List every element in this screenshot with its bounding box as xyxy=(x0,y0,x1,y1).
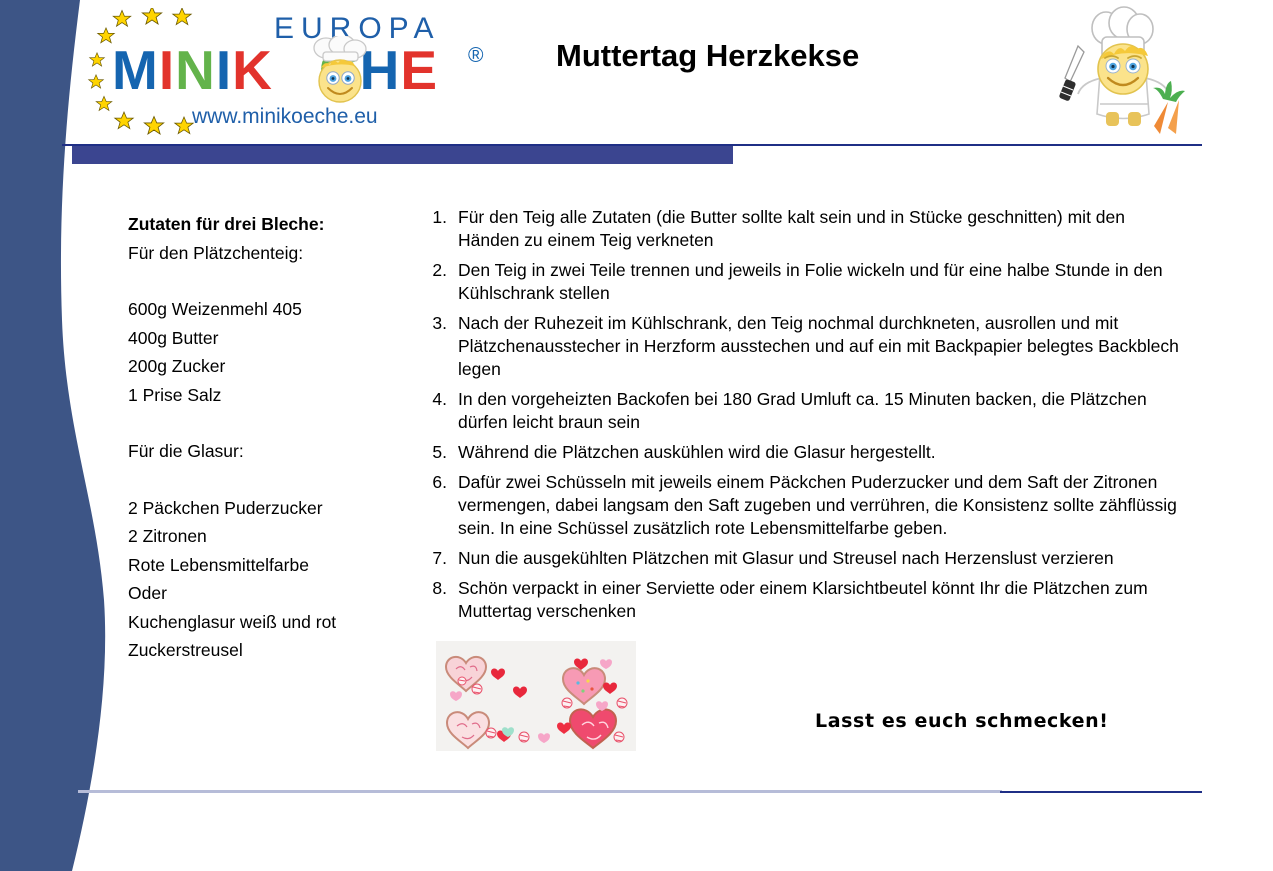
step-text: Dafür zwei Schüsseln mit jeweils einem P… xyxy=(458,471,1188,540)
step-text: Für den Teig alle Zutaten (die Butter so… xyxy=(458,206,1188,252)
instruction-step: 5. Während die Plätzchen auskühlen wird … xyxy=(428,441,1188,464)
step-text: Nach der Ruhezeit im Kühlschrank, den Te… xyxy=(458,312,1188,381)
spacer xyxy=(128,409,418,437)
page-title: Muttertag Herzkekse xyxy=(556,38,859,74)
step-text: Während die Plätzchen auskühlen wird die… xyxy=(458,441,1188,464)
page-header: EUROPA MINIKOCHE ® www.minikoeche.eu xyxy=(0,0,1273,145)
step-number: 8. xyxy=(428,577,458,600)
ingredients-dough-subheading: Für den Plätzchenteig: xyxy=(128,239,418,268)
recipe-page: EUROPA MINIKOCHE ® www.minikoeche.eu xyxy=(0,0,1273,871)
heart-cookies-photo xyxy=(436,641,636,751)
closing-message: Lasst es euch schmecken! xyxy=(815,710,1109,732)
footer-divider-rule-dark xyxy=(1000,791,1202,793)
ingredient-item: Kuchenglasur weiß und rot xyxy=(128,608,418,637)
step-number: 6. xyxy=(428,471,458,494)
step-text: Den Teig in zwei Teile trennen und jewei… xyxy=(458,259,1188,305)
step-text: Schön verpackt in einer Serviette oder e… xyxy=(458,577,1188,623)
spacer xyxy=(128,267,418,295)
step-number: 5. xyxy=(428,441,458,464)
instruction-step: 1. Für den Teig alle Zutaten (die Butter… xyxy=(428,206,1188,252)
ingredient-item: 400g Butter xyxy=(128,324,418,353)
instruction-step: 2. Den Teig in zwei Teile trennen und je… xyxy=(428,259,1188,305)
step-number: 7. xyxy=(428,547,458,570)
step-text: Nun die ausgekühlten Plätzchen mit Glasu… xyxy=(458,547,1188,570)
instruction-step: 3. Nach der Ruhezeit im Kühlschrank, den… xyxy=(428,312,1188,381)
instruction-step: 6. Dafür zwei Schüsseln mit jeweils eine… xyxy=(428,471,1188,540)
step-number: 2. xyxy=(428,259,458,282)
registered-trademark-icon: ® xyxy=(468,44,483,68)
minikoeche-logo: EUROPA MINIKOCHE ® www.minikoeche.eu xyxy=(86,8,506,136)
step-number: 1. xyxy=(428,206,458,229)
logo-brand-text: MINIKOCHE xyxy=(112,41,438,99)
step-number: 4. xyxy=(428,388,458,411)
ingredients-panel: Zutaten für drei Bleche: Für den Plätzch… xyxy=(128,210,418,665)
ingredient-item: 1 Prise Salz xyxy=(128,381,418,410)
ingredient-item: 2 Zitronen xyxy=(128,522,418,551)
footer-divider-rule-light xyxy=(78,790,1002,793)
ingredient-item: 2 Päckchen Puderzucker xyxy=(128,494,418,523)
chef-face-icon xyxy=(308,36,372,106)
page-content: Zutaten für drei Bleche: Für den Plätzch… xyxy=(0,164,1273,784)
ingredient-item: Zuckerstreusel xyxy=(128,636,418,665)
carrot-icon xyxy=(1153,81,1185,134)
spacer xyxy=(128,466,418,494)
logo-website-url: www.minikoeche.eu xyxy=(192,105,378,129)
knife-icon xyxy=(1059,46,1084,102)
header-accent-bar xyxy=(72,146,733,164)
ingredient-item: Rote Lebensmittelfarbe xyxy=(128,551,418,580)
ingredients-glaze-subheading: Für die Glasur: xyxy=(128,437,418,466)
ingredient-item: 600g Weizenmehl 405 xyxy=(128,295,418,324)
instruction-step: 4. In den vorgeheizten Backofen bei 180 … xyxy=(428,388,1188,434)
chef-mascot-icon xyxy=(1048,4,1198,140)
instruction-step: 7. Nun die ausgekühlten Plätzchen mit Gl… xyxy=(428,547,1188,570)
step-number: 3. xyxy=(428,312,458,335)
ingredient-item: Oder xyxy=(128,579,418,608)
step-text: In den vorgeheizten Backofen bei 180 Gra… xyxy=(458,388,1188,434)
instruction-steps-list: 1. Für den Teig alle Zutaten (die Butter… xyxy=(428,206,1188,630)
ingredients-heading: Zutaten für drei Bleche: xyxy=(128,210,418,239)
ingredient-item: 200g Zucker xyxy=(128,352,418,381)
instruction-step: 8. Schön verpackt in einer Serviette ode… xyxy=(428,577,1188,623)
